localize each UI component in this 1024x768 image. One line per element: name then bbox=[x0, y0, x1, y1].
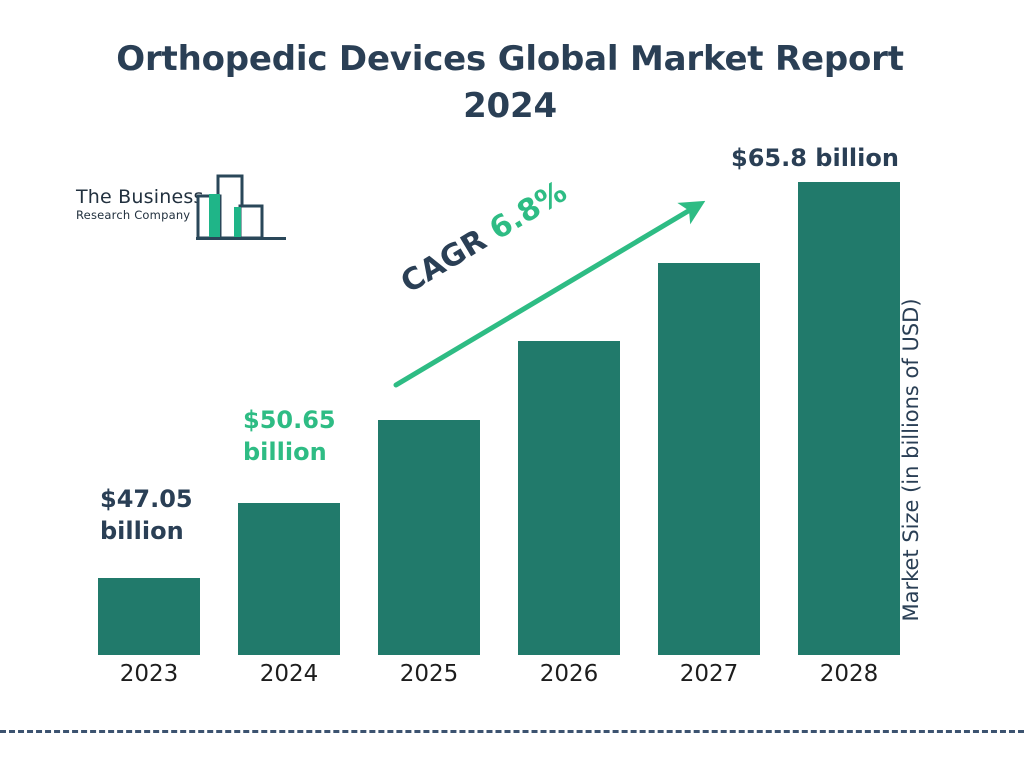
cagr-annotation: CAGR 6.8% bbox=[395, 157, 602, 300]
x-tick-2025: 2025 bbox=[369, 661, 489, 687]
bar-2024 bbox=[238, 503, 340, 655]
value-label-2024: $50.65 billion bbox=[243, 404, 373, 469]
value-label-2023: $47.05 billion bbox=[100, 483, 230, 548]
bar-chart-plot-area: 2023 2024 2025 2026 2027 2028 $47.05 bil… bbox=[0, 0, 1024, 700]
value-label-2023-amount: $47.05 bbox=[100, 483, 230, 515]
bar-2028 bbox=[798, 182, 900, 655]
y-axis-title: Market Size (in billions of USD) bbox=[899, 270, 933, 650]
x-tick-2028: 2028 bbox=[789, 661, 909, 687]
value-label-2024-amount: $50.65 bbox=[243, 404, 373, 436]
chart-canvas: Orthopedic Devices Global Market Report … bbox=[0, 0, 1024, 768]
footer-divider bbox=[0, 730, 1024, 733]
x-tick-2026: 2026 bbox=[509, 661, 629, 687]
cagr-value: 6.8% bbox=[484, 174, 573, 247]
bar-2027 bbox=[658, 263, 760, 655]
bar-2026 bbox=[518, 341, 620, 655]
bar-2025 bbox=[378, 420, 480, 655]
x-tick-2024: 2024 bbox=[229, 661, 349, 687]
value-label-2024-unit: billion bbox=[243, 436, 373, 468]
cagr-label: CAGR bbox=[395, 223, 493, 301]
value-label-2028: $65.8 billion bbox=[700, 142, 930, 174]
value-label-2023-unit: billion bbox=[100, 515, 230, 547]
x-tick-2027: 2027 bbox=[649, 661, 769, 687]
x-tick-2023: 2023 bbox=[89, 661, 209, 687]
bar-2023 bbox=[98, 578, 200, 655]
